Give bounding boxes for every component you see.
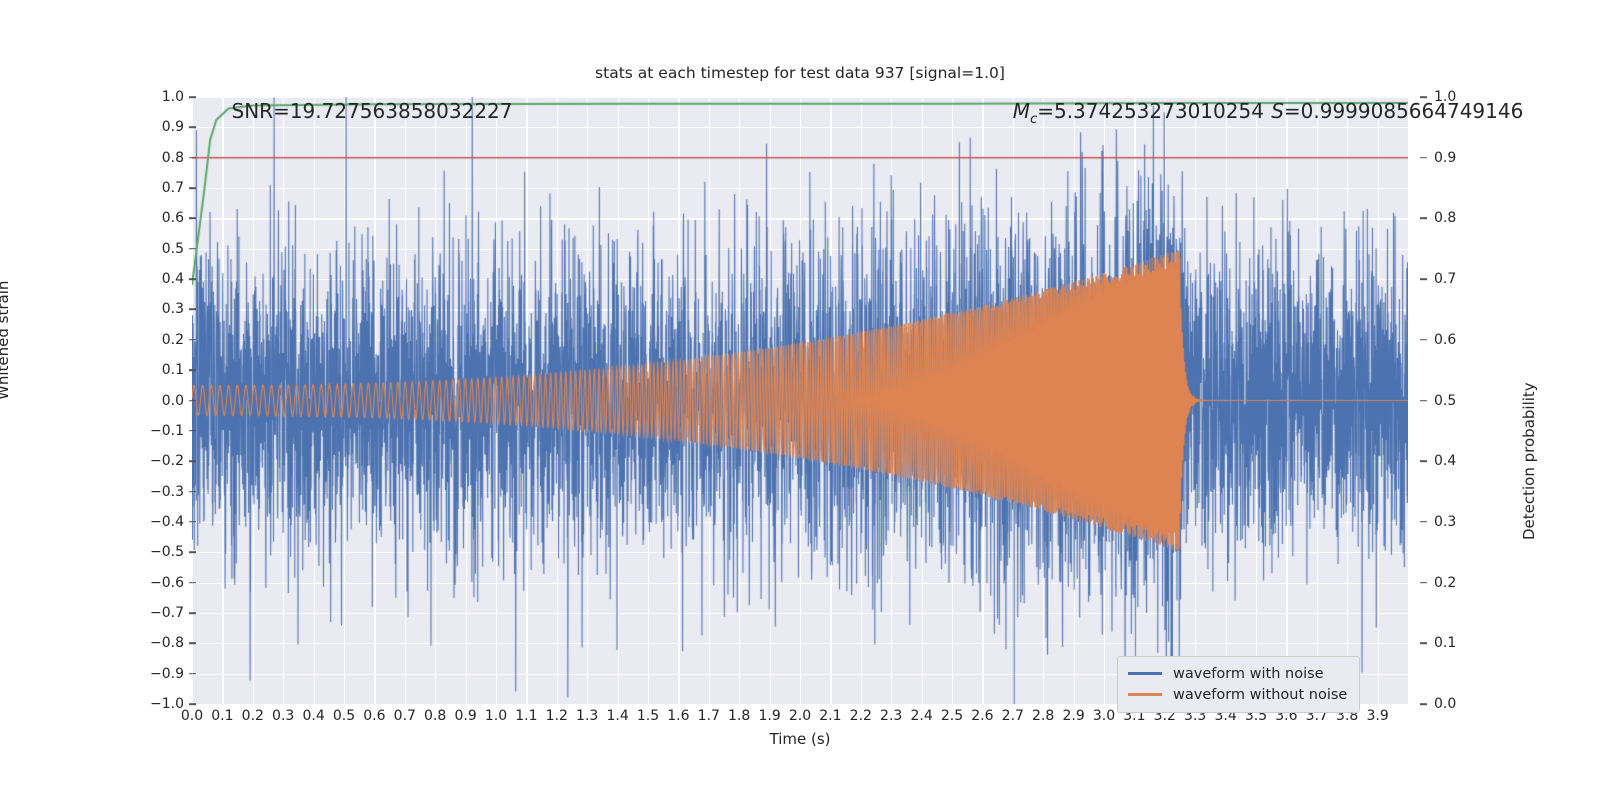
legend[interactable]: waveform with noise waveform without noi… bbox=[1117, 656, 1360, 713]
tick-mark bbox=[1420, 521, 1427, 523]
x-tick: 0.2 bbox=[242, 708, 264, 724]
x-tick: 1.5 bbox=[637, 708, 659, 724]
tick-mark bbox=[1420, 218, 1427, 220]
x-tick: 2.2 bbox=[850, 708, 872, 724]
annotation-score: S=0.9999085664749146 bbox=[1271, 99, 1523, 123]
y-tick-right: 0.1 bbox=[1420, 635, 1494, 651]
tick-mark bbox=[1420, 582, 1427, 584]
y-tick-left: 0.5 bbox=[124, 241, 184, 257]
x-tick: 2.6 bbox=[971, 708, 993, 724]
x-tick: 2.8 bbox=[1032, 708, 1054, 724]
tick-mark bbox=[189, 673, 196, 675]
x-tick: 0.9 bbox=[454, 708, 476, 724]
tick-mark bbox=[189, 187, 196, 189]
y-tick-left: 0.8 bbox=[124, 150, 184, 166]
x-tick: 0.7 bbox=[394, 708, 416, 724]
y-tick-left: −1.0 bbox=[124, 696, 184, 712]
x-tick: 1.0 bbox=[485, 708, 507, 724]
x-tick: 1.9 bbox=[758, 708, 780, 724]
legend-label: waveform with noise bbox=[1173, 666, 1324, 682]
x-tick: 1.4 bbox=[606, 708, 628, 724]
annotation-snr: SNR=19.727563858032227 bbox=[232, 99, 513, 123]
y-tick-right: 0.4 bbox=[1420, 453, 1494, 469]
x-tick: 0.1 bbox=[211, 708, 233, 724]
y-tick-right: 0.6 bbox=[1420, 332, 1494, 348]
x-tick: 3.0 bbox=[1093, 708, 1115, 724]
x-tick: 2.5 bbox=[941, 708, 963, 724]
x-tick: 2.4 bbox=[910, 708, 932, 724]
tick-mark bbox=[1420, 460, 1427, 462]
tick-mark bbox=[189, 157, 196, 159]
legend-swatch-orange bbox=[1128, 693, 1162, 696]
chart-figure: stats at each timestep for test data 937… bbox=[0, 0, 1600, 800]
x-tick: 2.9 bbox=[1062, 708, 1084, 724]
tick-mark bbox=[189, 96, 196, 98]
y-tick-right: 0.5 bbox=[1420, 393, 1494, 409]
tick-mark bbox=[1420, 96, 1427, 98]
legend-swatch-blue bbox=[1128, 672, 1162, 675]
tick-mark bbox=[1420, 157, 1427, 159]
x-tick: 2.3 bbox=[880, 708, 902, 724]
y-tick-left: 0.1 bbox=[124, 362, 184, 378]
tick-mark bbox=[189, 430, 196, 432]
tick-mark bbox=[189, 127, 196, 129]
tick-mark bbox=[1420, 643, 1427, 645]
tick-mark bbox=[189, 643, 196, 645]
tick-mark bbox=[189, 491, 196, 493]
tick-mark bbox=[1420, 400, 1427, 402]
page-title: stats at each timestep for test data 937… bbox=[192, 64, 1408, 82]
y-tick-right: 0.9 bbox=[1420, 150, 1494, 166]
tick-mark bbox=[189, 218, 196, 220]
y-tick-left: −0.3 bbox=[124, 484, 184, 500]
x-tick: 0.3 bbox=[272, 708, 294, 724]
y-tick-left: −0.9 bbox=[124, 666, 184, 682]
y-tick-left: 0.7 bbox=[124, 180, 184, 196]
legend-item[interactable]: waveform without noise bbox=[1128, 684, 1347, 705]
x-tick: 1.3 bbox=[576, 708, 598, 724]
tick-mark bbox=[189, 309, 196, 311]
x-tick: 0.4 bbox=[302, 708, 324, 724]
tick-mark bbox=[189, 521, 196, 523]
y-axis-right-label: Detection probability bbox=[1520, 382, 1538, 540]
tick-mark bbox=[1420, 703, 1427, 705]
y-tick-right: 0.8 bbox=[1420, 210, 1494, 226]
x-axis-label: Time (s) bbox=[192, 730, 1408, 748]
y-tick-right: 0.7 bbox=[1420, 271, 1494, 287]
legend-item[interactable]: waveform with noise bbox=[1128, 663, 1347, 684]
y-tick-left: 1.0 bbox=[124, 89, 184, 105]
tick-mark bbox=[189, 369, 196, 371]
y-tick-left: −0.2 bbox=[124, 453, 184, 469]
y-tick-left: −0.4 bbox=[124, 514, 184, 530]
tick-mark bbox=[189, 612, 196, 614]
y-tick-left: 0.3 bbox=[124, 301, 184, 317]
x-tick: 1.7 bbox=[698, 708, 720, 724]
x-tick: 3.9 bbox=[1366, 708, 1388, 724]
annotation-mchirp: Mc=5.374253273010254 bbox=[1013, 99, 1264, 127]
y-tick-left: 0.2 bbox=[124, 332, 184, 348]
y-tick-right: 0.0 bbox=[1420, 696, 1494, 712]
y-tick-left: 0.0 bbox=[124, 393, 184, 409]
tick-mark bbox=[189, 582, 196, 584]
y-tick-left: 0.4 bbox=[124, 271, 184, 287]
y-tick-left: −0.6 bbox=[124, 575, 184, 591]
tick-mark bbox=[189, 703, 196, 705]
tick-mark bbox=[189, 248, 196, 250]
y-tick-left: 0.6 bbox=[124, 210, 184, 226]
waveform-canvas bbox=[192, 97, 1408, 704]
y-tick-left: −0.1 bbox=[124, 423, 184, 439]
x-tick: 1.1 bbox=[515, 708, 537, 724]
y-tick-right: 0.3 bbox=[1420, 514, 1494, 530]
y-tick-left: −0.7 bbox=[124, 605, 184, 621]
x-tick: 0.8 bbox=[424, 708, 446, 724]
x-tick: 0.6 bbox=[363, 708, 385, 724]
tick-mark bbox=[189, 339, 196, 341]
plot-area bbox=[192, 97, 1408, 704]
tick-mark bbox=[189, 400, 196, 402]
legend-label: waveform without noise bbox=[1173, 687, 1347, 703]
x-tick: 2.1 bbox=[819, 708, 841, 724]
y-tick-left: 0.9 bbox=[124, 119, 184, 135]
x-tick: 2.7 bbox=[1002, 708, 1024, 724]
tick-mark bbox=[189, 551, 196, 553]
tick-mark bbox=[189, 278, 196, 280]
y-tick-right: 0.2 bbox=[1420, 575, 1494, 591]
x-tick: 0.5 bbox=[333, 708, 355, 724]
tick-mark bbox=[1420, 339, 1427, 341]
x-tick: 2.0 bbox=[789, 708, 811, 724]
y-tick-left: −0.8 bbox=[124, 635, 184, 651]
x-tick: 1.2 bbox=[546, 708, 568, 724]
y-axis-left-label: Whitened strain bbox=[0, 281, 12, 400]
x-tick: 1.6 bbox=[667, 708, 689, 724]
y-tick-left: −0.5 bbox=[124, 544, 184, 560]
x-tick: 0.0 bbox=[181, 708, 203, 724]
tick-mark bbox=[1420, 278, 1427, 280]
x-tick: 1.8 bbox=[728, 708, 750, 724]
tick-mark bbox=[189, 460, 196, 462]
